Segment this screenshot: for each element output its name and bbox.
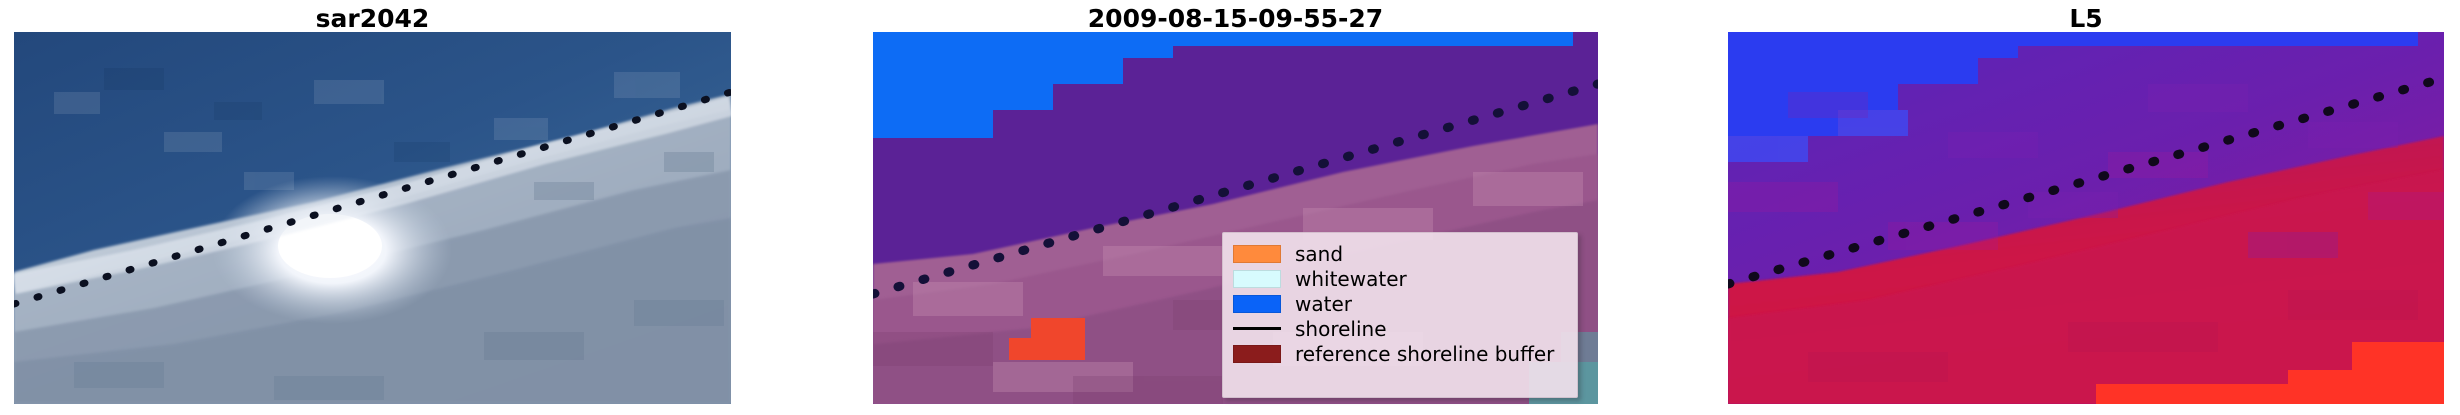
l5-image [1728, 32, 2444, 404]
sar2042-image [14, 32, 731, 404]
panel-title-2: 2009-08-15-09-55-27 [873, 4, 1598, 34]
whitewater-swatch [1233, 270, 1281, 288]
shoreline-line-swatch [1233, 320, 1281, 338]
legend-item-whitewater[interactable]: whitewater [1233, 266, 1565, 291]
legend-label-reference-shoreline-buffer: reference shoreline buffer [1295, 343, 1554, 365]
legend-item-shoreline[interactable]: shoreline [1233, 316, 1565, 341]
legend-label-shoreline: shoreline [1295, 318, 1387, 340]
panel-title-1: sar2042 [14, 4, 731, 34]
legend-item-water[interactable]: water [1233, 291, 1565, 316]
map-legend[interactable]: sand whitewater water shoreline referenc… [1222, 232, 1578, 398]
figure-canvas: sar2042 [0, 0, 2460, 415]
water-swatch [1233, 295, 1281, 313]
legend-item-sand[interactable]: sand [1233, 241, 1565, 266]
legend-label-water: water [1295, 293, 1352, 315]
panel-l5[interactable] [1728, 32, 2444, 404]
panel-title-3: L5 [1728, 4, 2444, 34]
legend-label-sand: sand [1295, 243, 1343, 265]
reference-shoreline-buffer-swatch [1233, 345, 1281, 363]
sand-swatch [1233, 245, 1281, 263]
legend-item-reference-shoreline-buffer[interactable]: reference shoreline buffer [1233, 341, 1565, 366]
panel-sar2042[interactable] [14, 32, 731, 404]
legend-label-whitewater: whitewater [1295, 268, 1407, 290]
